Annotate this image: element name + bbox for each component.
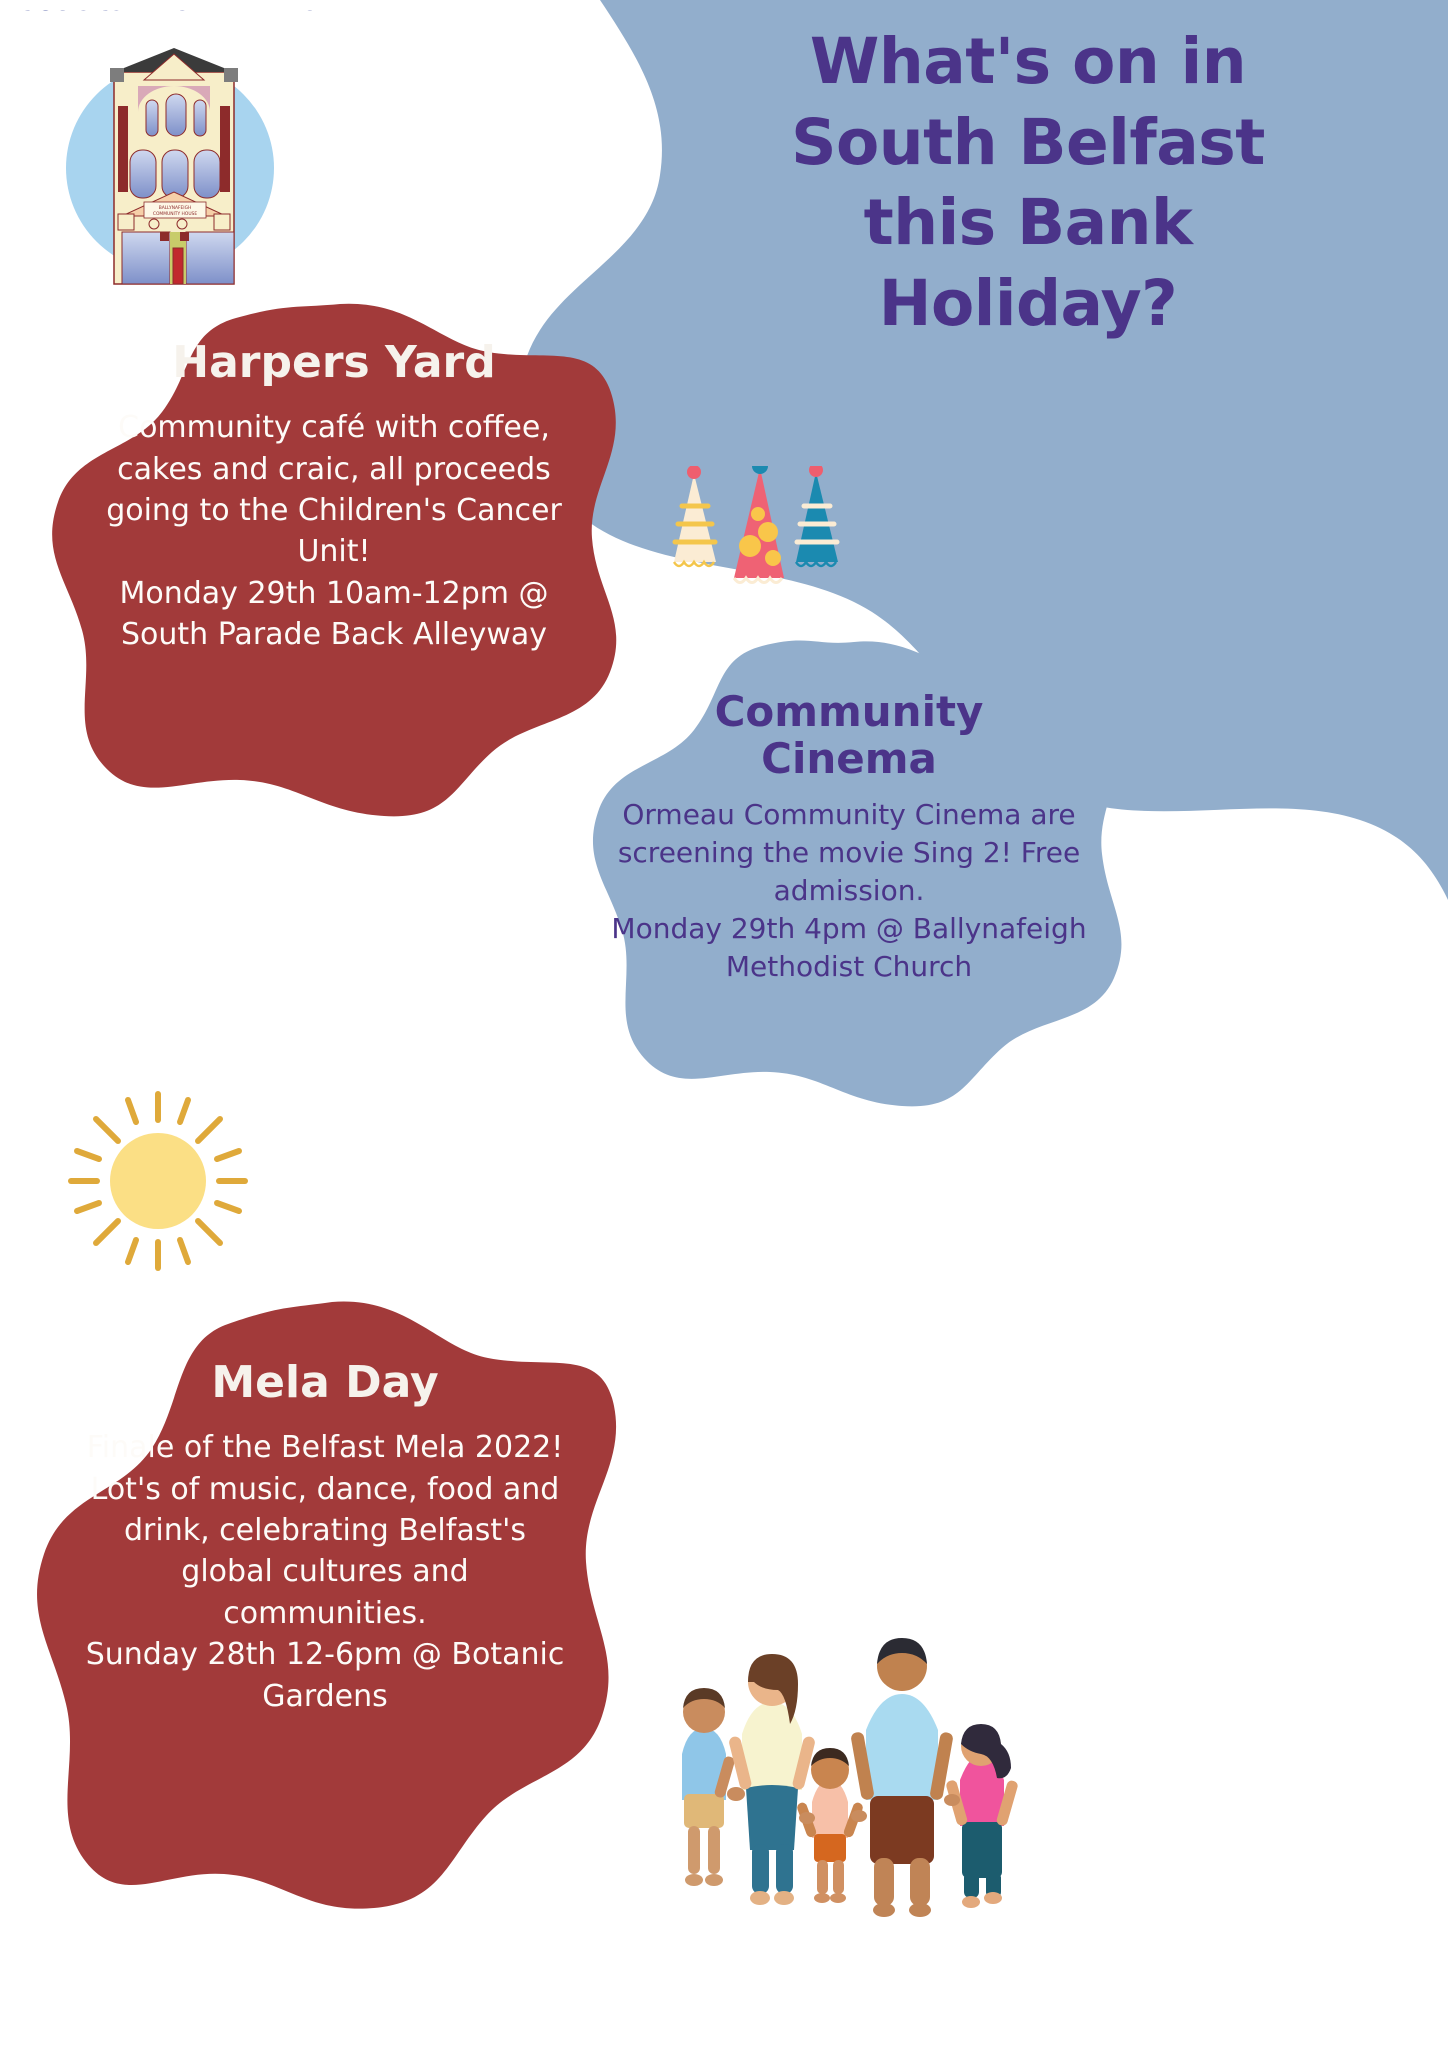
event-card-details: Monday 29th 4pm @ Ballynafeigh Methodist… [610,910,1088,986]
event-card-community-cinema: Community Cinema Ormeau Community Cinema… [568,640,1128,1110]
event-card-details: Sunday 28th 12-6pm @ Botanic Gardens [82,1634,568,1717]
event-card-description: Community café with coffee, cakes and cr… [94,407,574,573]
event-card-title-line-1: Community [610,688,1088,735]
event-card-title: Harpers Yard [94,338,574,387]
page-title-line-2: South Belfast [648,103,1408,184]
event-card-title: Mela Day [82,1358,568,1407]
page-title: What's on in South Belfast this Bank Hol… [648,22,1408,345]
logo: COMMUNITY DEVELOPMENT ASSOCIATION • BALL… [18,10,318,302]
page-title-line-1: What's on in [648,22,1408,103]
sun-icon [48,1076,268,1286]
event-card-title-line-2: Cinema [610,735,1088,782]
page-title-line-3: this Bank [648,183,1408,264]
event-card-mela-day: Mela Day Finale of the Belfast Mela 2022… [24,1296,624,1936]
event-card-harpers-yard: Harpers Yard Community café with coffee,… [40,300,628,820]
page-title-line-4: Holiday? [648,264,1408,345]
event-card-details: Monday 29th 10am-12pm @ South Parade Bac… [94,573,574,656]
event-card-description: Ormeau Community Cinema are screening th… [610,796,1088,910]
event-card-description: Finale of the Belfast Mela 2022! Lot's o… [82,1427,568,1634]
logo-building-icon: BALLYNAFEIGH COMMUNITY HOUSE [110,48,238,284]
party-hats-icon [672,466,852,602]
event-card-title: Community Cinema [610,688,1088,782]
poster: COMMUNITY DEVELOPMENT ASSOCIATION • BALL… [0,0,1448,2048]
logo-building-sign-line1: BALLYNAFEIGH [159,205,192,211]
logo-building-sign-line2: COMMUNITY HOUSE [153,211,197,217]
logo-ring-text-bottom: ASSOCIATION • BALLYNAFEIGH [18,10,318,16]
family-walking-icon [660,1604,1060,1944]
